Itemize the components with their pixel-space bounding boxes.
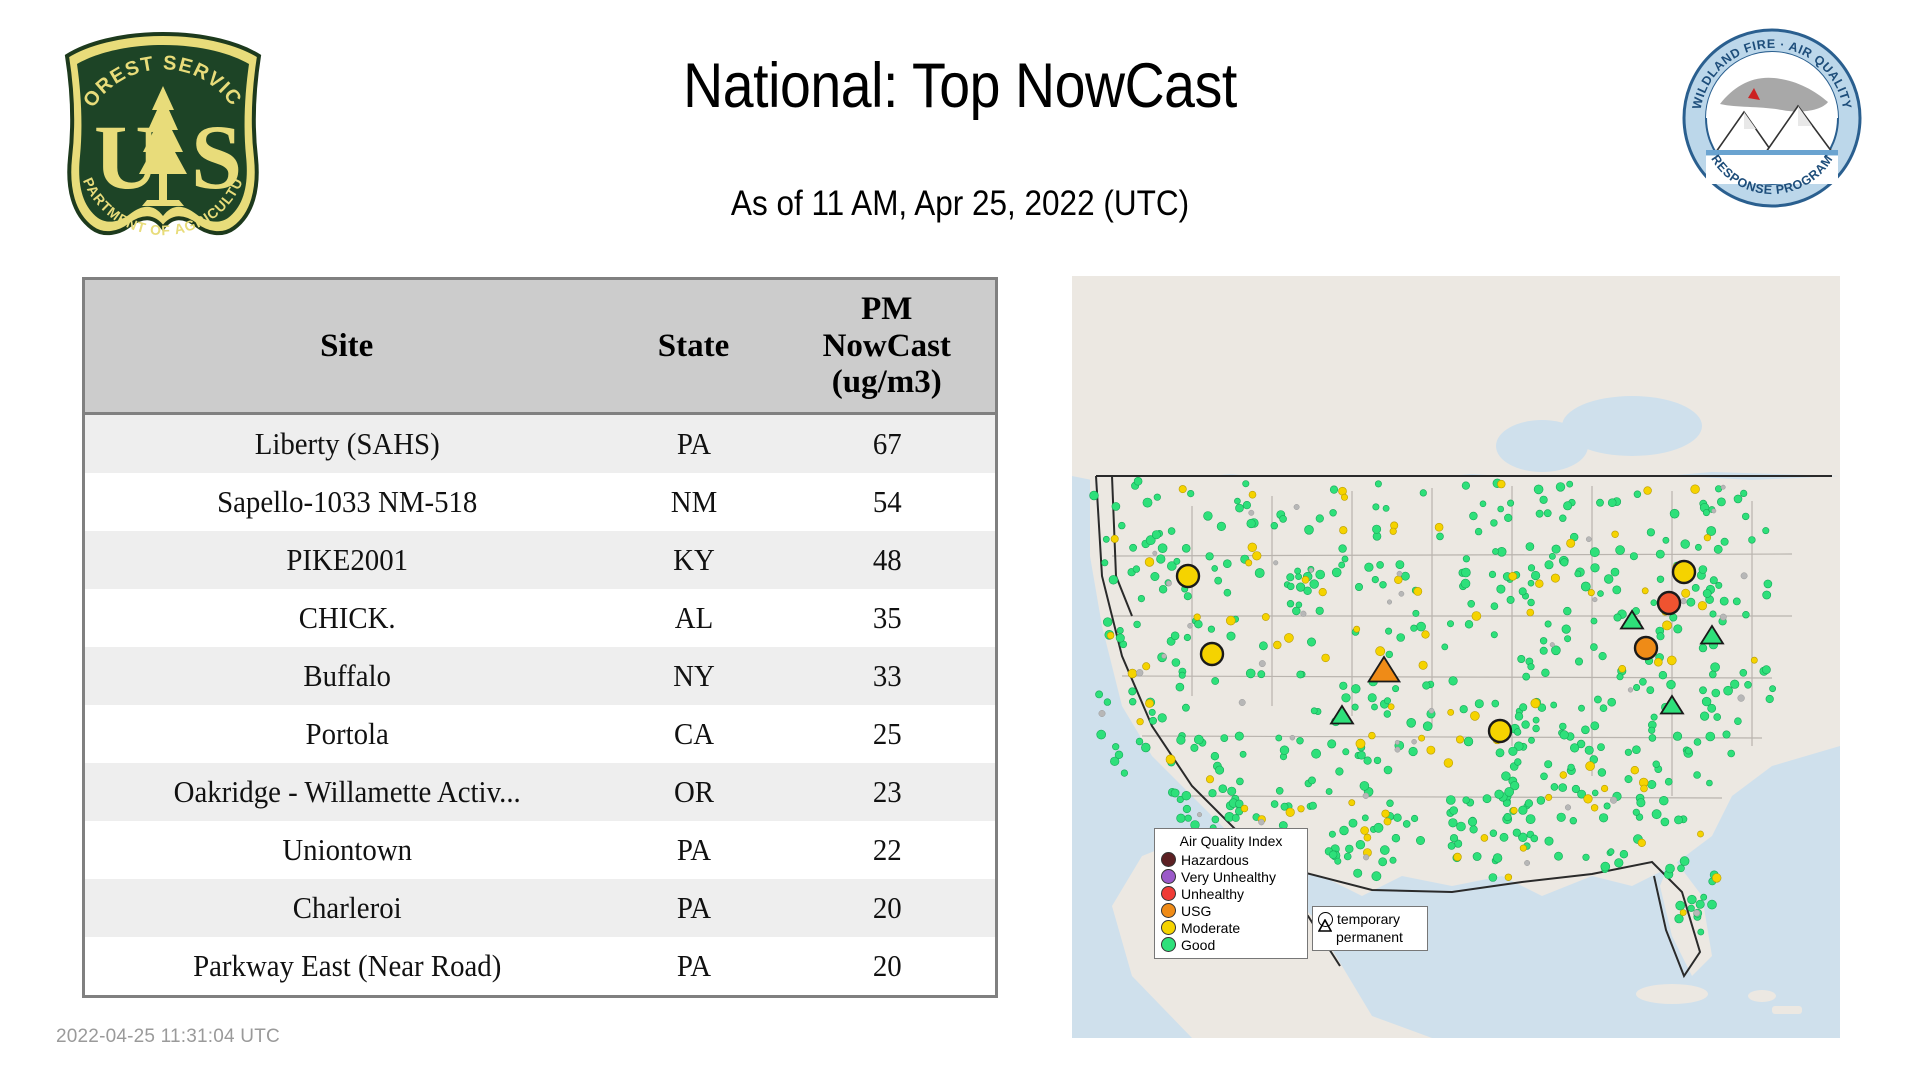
map-monitor-dot xyxy=(1363,855,1369,861)
map-monitor-dot xyxy=(1551,574,1559,582)
map-monitor-dot xyxy=(1472,612,1481,621)
map-monitor-dot xyxy=(1296,602,1302,608)
map-monitor-dot xyxy=(1738,695,1745,702)
legend-row-permanent: permanent xyxy=(1318,928,1422,946)
map-monitor-dot xyxy=(1594,696,1601,703)
map-monitor-dot xyxy=(1388,704,1394,710)
map-monitor-dot xyxy=(1536,510,1543,517)
map-monitor-dot xyxy=(1630,553,1637,560)
map-monitor-dot xyxy=(1166,581,1171,586)
map-monitor-dot xyxy=(1090,491,1099,500)
map-monitor-dot xyxy=(1712,874,1721,883)
map-monitor-dot xyxy=(1340,526,1348,534)
map-monitor-dot xyxy=(1336,768,1344,776)
top-nowcast-table: Site State PM NowCast (ug/m3) Liberty (S… xyxy=(82,277,998,998)
map-monitor-dot xyxy=(1141,743,1150,752)
map-monitor-dot xyxy=(1271,801,1278,808)
map-monitor-dot xyxy=(1665,778,1672,785)
map-monitor-dot xyxy=(1158,544,1167,553)
map-monitor-dot xyxy=(1513,829,1521,837)
map-monitor-dot xyxy=(1332,568,1341,577)
map-monitor-dot xyxy=(1152,531,1160,539)
map-monitor-dot xyxy=(1397,634,1405,642)
footer-timestamp: 2022-04-25 11:31:04 UTC xyxy=(56,1026,280,1048)
map-monitor-dot xyxy=(1563,607,1571,615)
map-monitor-dot xyxy=(1437,533,1444,540)
column-header-pm-line2: NowCast xyxy=(823,328,951,364)
map-monitor-dot xyxy=(1360,781,1369,790)
map-monitor-dot xyxy=(1103,618,1112,627)
map-monitor-dot xyxy=(1243,501,1251,509)
map-monitor-dot xyxy=(1763,591,1771,599)
map-monitor-dot xyxy=(1535,580,1543,588)
map-monitor-dot xyxy=(1692,584,1699,591)
map-monitor-dot xyxy=(1491,603,1498,610)
map-monitor-dot xyxy=(1243,481,1249,487)
map-monitor-dot xyxy=(1717,498,1725,506)
map-monitor-dot xyxy=(1159,585,1167,593)
map-monitor-dot xyxy=(1464,737,1473,746)
map-monitor-dot xyxy=(1308,777,1315,784)
map-monitor-dot xyxy=(1330,486,1338,494)
map-monitor-dot xyxy=(1700,712,1709,721)
table-row[interactable]: Oakridge - Willamette Activ...OR23 xyxy=(84,763,997,821)
map-monitor-dot xyxy=(1312,749,1321,758)
map-monitor-dot xyxy=(1287,600,1294,607)
map-monitor-dot xyxy=(1249,491,1256,498)
aqi-legend-label: USG xyxy=(1181,904,1211,918)
map-monitor-dot xyxy=(1470,512,1478,520)
map-monitor-dot xyxy=(1616,546,1625,555)
map-monitor-dot xyxy=(1339,545,1347,553)
column-header-site[interactable]: Site xyxy=(84,279,609,414)
map-monitor-dot xyxy=(1619,665,1626,672)
map-monitor-dot xyxy=(1528,737,1534,743)
map-monitor-dot xyxy=(1698,601,1707,610)
aqi-legend-item: Moderate xyxy=(1161,919,1301,936)
map-monitor-dot xyxy=(1461,579,1470,588)
map-monitor-dot xyxy=(1409,747,1418,756)
map-monitor-dot xyxy=(1292,607,1300,615)
map-monitor-dot xyxy=(1286,808,1295,817)
map-highlighted-site-marker[interactable] xyxy=(1201,643,1223,665)
map-monitor-dot xyxy=(1591,564,1600,573)
map-monitor-dot xyxy=(1710,611,1716,617)
map-monitor-dot xyxy=(1145,699,1153,707)
map-monitor-dot xyxy=(1584,795,1593,804)
map-monitor-dot xyxy=(1187,490,1194,497)
top-nowcast-table-container: Site State PM NowCast (ug/m3) Liberty (S… xyxy=(82,277,995,998)
cell-state: PA xyxy=(614,821,772,879)
map-monitor-dot xyxy=(1133,566,1140,573)
cell-pm: 48 xyxy=(786,531,989,589)
map-monitor-dot xyxy=(1654,658,1662,666)
cell-state: OR xyxy=(614,763,772,821)
map-monitor-dot xyxy=(1497,480,1505,488)
map-monitor-dot xyxy=(1500,833,1508,841)
cell-state: KY xyxy=(614,531,772,589)
aqi-swatch-icon xyxy=(1161,886,1176,901)
map-monitor-dot xyxy=(1143,498,1152,507)
aqi-swatch-icon xyxy=(1161,852,1176,867)
map-monitor-dot xyxy=(1412,739,1417,744)
map-monitor-dot xyxy=(1223,560,1231,568)
cell-pm: 54 xyxy=(786,473,989,531)
map-monitor-dot xyxy=(1540,637,1547,644)
aqi-swatch-icon xyxy=(1161,920,1176,935)
map-monitor-dot xyxy=(1158,714,1167,723)
map-monitor-dot xyxy=(1290,735,1295,740)
cell-site: Sapello-1033 NM-518 xyxy=(102,473,590,531)
map-monitor-dot xyxy=(1688,905,1695,912)
map-monitor-dot xyxy=(1721,538,1728,545)
map-monitor-dot xyxy=(1319,588,1327,596)
aqi-swatch-icon xyxy=(1161,903,1176,918)
map-monitor-dot xyxy=(1363,793,1369,799)
map-monitor-dot xyxy=(1497,585,1505,593)
map-monitor-dot xyxy=(1560,731,1569,740)
map-monitor-dot xyxy=(1177,814,1186,823)
map-monitor-dot xyxy=(1390,857,1396,863)
table-row[interactable]: Liberty (SAHS)PA67 xyxy=(84,414,997,474)
cell-pm: 67 xyxy=(786,414,989,474)
map-monitor-dot xyxy=(1581,726,1589,734)
map-monitor-dot xyxy=(1329,831,1335,837)
map-monitor-dot xyxy=(1519,806,1528,815)
map-monitor-dot xyxy=(1489,571,1496,578)
map-monitor-dot xyxy=(1228,787,1236,795)
aqi-legend-item: USG xyxy=(1161,902,1301,919)
map-monitor-dot xyxy=(1234,498,1240,504)
map-monitor-dot xyxy=(1741,573,1747,579)
map-monitor-dot xyxy=(1380,581,1387,588)
map-monitor-dot xyxy=(1335,858,1341,864)
map-monitor-dot xyxy=(1354,626,1360,632)
map-monitor-dot xyxy=(1642,588,1648,594)
map-monitor-dot xyxy=(1592,790,1598,796)
map-monitor-dot xyxy=(1730,680,1739,689)
map-monitor-dot xyxy=(1651,600,1657,606)
map-monitor-dot xyxy=(1136,738,1143,745)
map-highlighted-site-marker[interactable] xyxy=(1489,720,1511,742)
map-monitor-dot xyxy=(1392,834,1400,842)
map-monitor-dot xyxy=(1341,494,1347,500)
map-monitor-dot xyxy=(1301,611,1307,617)
map-monitor-dot xyxy=(1206,553,1214,561)
aqi-legend-label: Unhealthy xyxy=(1181,887,1244,901)
map-monitor-dot xyxy=(1446,796,1455,805)
map-monitor-dot xyxy=(1633,684,1639,690)
table-row[interactable]: Sapello-1033 NM-518NM54 xyxy=(84,473,997,531)
table-row[interactable]: PIKE2001KY48 xyxy=(84,531,997,589)
map-monitor-dot xyxy=(1743,611,1750,618)
map-monitor-dot xyxy=(1138,595,1145,602)
table-body: Liberty (SAHS)PA67Sapello-1033 NM-518NM5… xyxy=(84,414,997,997)
map-monitor-dot xyxy=(1597,744,1604,751)
map-monitor-dot xyxy=(1376,647,1385,656)
map-monitor-dot xyxy=(1166,755,1175,764)
map-monitor-dot xyxy=(1703,589,1711,597)
map-monitor-dot xyxy=(1631,766,1639,774)
map-monitor-dot xyxy=(1681,598,1687,604)
map-monitor-dot xyxy=(1259,660,1265,666)
map-monitor-dot xyxy=(1600,705,1607,712)
map-monitor-dot xyxy=(1545,561,1553,569)
map-monitor-dot xyxy=(1699,566,1707,574)
map-monitor-dot xyxy=(1733,598,1740,605)
aqi-swatch-icon xyxy=(1161,937,1176,952)
map-monitor-dot xyxy=(1374,823,1383,832)
map-monitor-dot xyxy=(1183,805,1191,813)
map-monitor-dot xyxy=(1651,714,1657,720)
map-monitor-dot xyxy=(1130,544,1137,551)
map-monitor-dot xyxy=(1429,708,1434,713)
map-monitor-dot xyxy=(1342,694,1351,703)
map-monitor-dot xyxy=(1116,634,1124,642)
map-monitor-dot xyxy=(1610,797,1617,804)
map-monitor-dot xyxy=(1653,761,1660,768)
column-header-pm-line1: PM xyxy=(861,291,912,327)
map-monitor-dot xyxy=(1504,514,1512,522)
map-monitor-dot xyxy=(1239,699,1245,705)
map-monitor-dot xyxy=(1296,583,1305,592)
map-monitor-dot xyxy=(1608,849,1614,855)
map-monitor-dot xyxy=(1385,628,1391,634)
map-monitor-dot xyxy=(1570,817,1577,824)
map-monitor-dot xyxy=(1112,502,1120,510)
table-row[interactable]: UniontownPA22 xyxy=(84,821,997,879)
table-row[interactable]: CharleroiPA20 xyxy=(84,879,997,937)
map-monitor-dot xyxy=(1197,812,1202,817)
map-monitor-dot xyxy=(1273,561,1278,566)
map-monitor-dot xyxy=(1591,618,1597,624)
column-header-pm-nowcast[interactable]: PM NowCast (ug/m3) xyxy=(779,279,997,414)
cell-state: PA xyxy=(614,414,772,474)
legend-label-temporary: temporary xyxy=(1337,912,1400,926)
map-monitor-dot xyxy=(1678,865,1685,872)
map-monitor-dot xyxy=(1714,714,1721,721)
table-row[interactable]: BuffaloNY33 xyxy=(84,647,997,705)
map-monitor-dot xyxy=(1377,561,1384,568)
map-monitor-dot xyxy=(1701,894,1707,900)
map-monitor-dot xyxy=(1151,572,1159,580)
map-monitor-dot xyxy=(1540,647,1547,654)
cell-site: Liberty (SAHS) xyxy=(102,414,590,474)
map-monitor-dot xyxy=(1504,813,1511,820)
map-monitor-dot xyxy=(1662,621,1671,630)
table-row[interactable]: Parkway East (Near Road)PA20 xyxy=(84,937,997,997)
map-monitor-dot xyxy=(1712,689,1720,697)
map-highlighted-site-marker[interactable] xyxy=(1635,637,1657,659)
cell-pm: 22 xyxy=(786,821,989,879)
map-monitor-dot xyxy=(1240,751,1246,757)
map-monitor-dot xyxy=(1633,809,1640,816)
map-monitor-dot xyxy=(1507,596,1514,603)
map-monitor-dot xyxy=(1531,571,1540,580)
map-monitor-dot xyxy=(1565,805,1571,811)
map-monitor-dot xyxy=(1226,616,1235,625)
map-monitor-dot xyxy=(1507,500,1513,506)
map-monitor-dot xyxy=(1740,669,1747,676)
map-monitor-dot xyxy=(1611,568,1619,576)
map-monitor-dot xyxy=(1195,620,1203,628)
map-monitor-dot xyxy=(1448,842,1455,849)
map-monitor-dot xyxy=(1567,481,1573,487)
map-monitor-dot xyxy=(1704,534,1711,541)
map-monitor-dot xyxy=(1706,732,1715,741)
map-monitor-dot xyxy=(1481,834,1488,841)
map-monitor-dot xyxy=(1551,702,1557,708)
map-monitor-dot xyxy=(1556,483,1565,492)
map-monitor-dot xyxy=(1343,749,1349,755)
map-monitor-dot xyxy=(1680,910,1686,916)
map-monitor-dot xyxy=(1185,815,1192,822)
map-monitor-dot xyxy=(1217,522,1226,531)
cell-site: CHICK. xyxy=(102,589,590,647)
map-monitor-dot xyxy=(1241,805,1248,812)
map-monitor-dot xyxy=(1375,481,1381,487)
map-monitor-dot xyxy=(1371,704,1377,710)
map-monitor-dot xyxy=(1168,528,1175,535)
map-monitor-dot xyxy=(1723,731,1730,738)
map-monitor-dot xyxy=(1490,830,1497,837)
map-monitor-dot xyxy=(1352,704,1358,710)
aqi-legend-item: Very Unhealthy xyxy=(1161,868,1301,885)
map-monitor-dot xyxy=(1461,568,1470,577)
table-row[interactable]: PortolaCA25 xyxy=(84,705,997,763)
map-monitor-dot xyxy=(1448,709,1454,715)
map-monitor-dot xyxy=(1526,543,1534,551)
map-monitor-dot xyxy=(1511,807,1518,814)
map-monitor-dot xyxy=(1533,725,1540,732)
map-monitor-dot xyxy=(1716,582,1722,588)
map-monitor-dot xyxy=(1447,621,1453,627)
map-monitor-dot xyxy=(1287,583,1294,590)
map-monitor-dot xyxy=(1311,708,1317,714)
map-monitor-dot xyxy=(1224,589,1231,596)
map-monitor-dot xyxy=(1493,854,1502,863)
map-monitor-dot xyxy=(1104,699,1111,706)
map-monitor-dot xyxy=(1387,800,1394,807)
map-monitor-dot xyxy=(1492,700,1499,707)
map-monitor-dot xyxy=(1177,736,1186,745)
map-highlighted-site-marker[interactable] xyxy=(1658,592,1680,614)
map-monitor-dot xyxy=(1246,669,1255,678)
map-monitor-dot xyxy=(1711,663,1720,672)
map-monitor-dot xyxy=(1540,496,1548,504)
map-monitor-dot xyxy=(1734,495,1742,503)
map-monitor-dot xyxy=(1387,600,1392,605)
map-monitor-dot xyxy=(1420,490,1427,497)
map-monitor-dot xyxy=(1150,717,1157,724)
map-monitor-dot xyxy=(1369,732,1376,739)
map-monitor-dot xyxy=(1374,757,1381,764)
map-monitor-dot xyxy=(1641,785,1648,792)
map-monitor-dot xyxy=(1362,815,1368,821)
map-monitor-dot xyxy=(1411,815,1418,822)
map-monitor-dot xyxy=(1637,799,1645,807)
map-monitor-dot xyxy=(1550,642,1555,647)
map-monitor-dot xyxy=(1373,504,1379,510)
map-monitor-dot xyxy=(1219,785,1227,793)
map-monitor-dot xyxy=(1667,656,1676,665)
map-monitor-dot xyxy=(1599,652,1607,660)
map-monitor-dot xyxy=(1740,490,1747,497)
map-monitor-dot xyxy=(1112,743,1119,750)
aqi-legend-label: Hazardous xyxy=(1181,853,1249,867)
national-aqi-map[interactable]: Air Quality Index HazardousVery Unhealth… xyxy=(1072,276,1840,1038)
map-monitor-dot xyxy=(1475,528,1482,535)
cell-state: PA xyxy=(614,879,772,937)
map-monitor-dot xyxy=(1397,571,1402,576)
map-monitor-dot xyxy=(1396,561,1404,569)
map-monitor-dot xyxy=(1560,772,1567,779)
cell-site: Uniontown xyxy=(102,821,590,879)
map-monitor-dot xyxy=(1546,794,1552,800)
map-monitor-dot xyxy=(1128,669,1137,678)
column-header-state[interactable]: State xyxy=(609,279,779,414)
map-monitor-dot xyxy=(1419,661,1427,669)
map-monitor-dot xyxy=(1463,797,1470,804)
map-monitor-dot xyxy=(1296,574,1302,580)
map-monitor-dot xyxy=(1457,822,1466,831)
map-monitor-dot xyxy=(1372,576,1379,583)
map-monitor-dot xyxy=(1372,872,1381,881)
map-monitor-dot xyxy=(1541,773,1548,780)
map-monitor-dot xyxy=(1714,545,1722,553)
map-monitor-dot xyxy=(1615,859,1624,868)
map-monitor-dot xyxy=(1329,851,1337,859)
map-monitor-dot xyxy=(1724,686,1733,695)
map-monitor-dot xyxy=(1356,739,1365,748)
map-monitor-dot xyxy=(1590,644,1597,651)
map-monitor-dot xyxy=(1310,580,1319,589)
map-monitor-dot xyxy=(1345,845,1353,853)
cell-state: PA xyxy=(614,937,772,997)
map-monitor-dot xyxy=(1368,694,1376,702)
map-monitor-dot xyxy=(1647,529,1655,537)
map-monitor-dot xyxy=(1644,487,1652,495)
map-monitor-dot xyxy=(1514,729,1521,736)
map-monitor-dot xyxy=(1591,722,1599,730)
map-monitor-dot xyxy=(1625,749,1632,756)
map-monitor-dot xyxy=(1305,525,1314,534)
map-monitor-dot xyxy=(1528,580,1534,586)
map-monitor-dot xyxy=(1208,626,1215,633)
map-monitor-dot xyxy=(1518,655,1525,662)
map-monitor-dot xyxy=(1099,710,1105,716)
map-monitor-dot xyxy=(1648,727,1655,734)
map-highlighted-site-marker[interactable] xyxy=(1673,561,1695,583)
map-monitor-dot xyxy=(1666,864,1675,873)
map-monitor-dot xyxy=(1706,780,1712,786)
map-monitor-dot xyxy=(1349,819,1357,827)
aqi-legend-title: Air Quality Index xyxy=(1161,833,1301,849)
map-monitor-dot xyxy=(1328,740,1336,748)
map-monitor-dot xyxy=(1470,826,1478,834)
map-monitor-dot xyxy=(1176,683,1184,691)
map-monitor-dot xyxy=(1509,572,1517,580)
map-monitor-dot xyxy=(1590,548,1599,557)
table-header-row: Site State PM NowCast (ug/m3) xyxy=(84,279,997,414)
table-row[interactable]: CHICK.AL35 xyxy=(84,589,997,647)
map-monitor-dot xyxy=(1109,575,1118,584)
map-monitor-dot xyxy=(1188,623,1193,628)
map-highlighted-site-marker[interactable] xyxy=(1177,565,1199,587)
map-monitor-dot xyxy=(1384,818,1391,825)
map-monitor-dot xyxy=(1483,795,1491,803)
map-monitor-dot xyxy=(1721,485,1725,489)
